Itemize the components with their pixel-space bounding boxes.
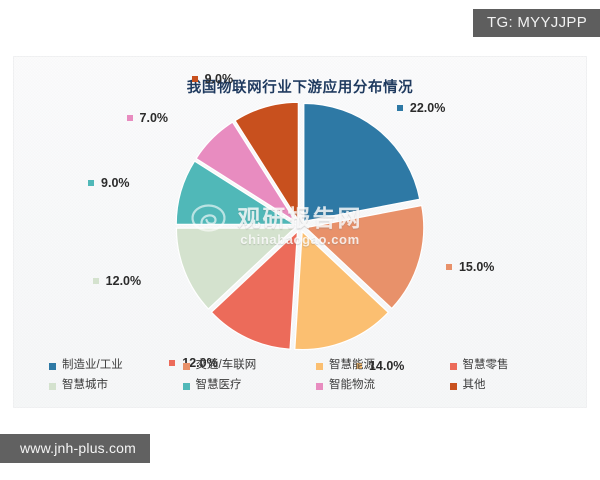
pie-chart-svg <box>13 100 587 352</box>
legend-swatch <box>316 383 323 390</box>
legend-label: 智慧医疗 <box>196 379 242 393</box>
pie-data-label-value: 22.0% <box>410 101 445 115</box>
legend-item[interactable]: 智能物流 <box>300 376 434 396</box>
legend-item[interactable]: 交通/车联网 <box>167 356 301 376</box>
pie-data-label: 12.0% <box>93 274 141 288</box>
pie-data-label-value: 12.0% <box>106 274 141 288</box>
chart-card: 我国物联网行业下游应用分布情况 22.0%15.0%14.0%12.0%12.0… <box>13 56 587 408</box>
legend-label: 交通/车联网 <box>196 359 257 373</box>
pie-data-label-swatch <box>446 264 452 270</box>
site-url-badge: www.jnh-plus.com <box>0 434 150 463</box>
pie-chart <box>13 100 587 352</box>
pie-data-label: 9.0% <box>192 72 234 86</box>
legend-label: 智慧城市 <box>62 379 108 393</box>
pie-data-label-swatch <box>93 278 99 284</box>
legend-item[interactable]: 制造业/工业 <box>33 356 167 376</box>
legend-swatch <box>183 383 190 390</box>
legend-swatch <box>450 363 457 370</box>
pie-data-label-value: 15.0% <box>459 260 494 274</box>
legend-item[interactable]: 其他 <box>434 376 568 396</box>
pie-slice[interactable] <box>304 103 420 221</box>
legend-label: 其他 <box>463 379 486 393</box>
legend-swatch <box>49 383 56 390</box>
legend-swatch <box>183 363 190 370</box>
legend-label: 智慧能源 <box>329 359 375 373</box>
pie-data-label: 15.0% <box>446 260 494 274</box>
pie-data-label: 22.0% <box>397 101 445 115</box>
legend-label: 制造业/工业 <box>62 359 123 373</box>
legend-label: 智能物流 <box>329 379 375 393</box>
pie-data-label-swatch <box>397 105 403 111</box>
chart-title: 我国物联网行业下游应用分布情况 <box>13 76 587 97</box>
legend-label: 智慧零售 <box>463 359 509 373</box>
legend-item[interactable]: 智慧零售 <box>434 356 568 376</box>
legend-swatch <box>450 383 457 390</box>
pie-data-label-swatch <box>192 76 198 82</box>
pie-data-label-value: 9.0% <box>101 176 130 190</box>
chart-legend: 制造业/工业交通/车联网智慧能源智慧零售智慧城市智慧医疗智能物流其他 <box>33 356 567 396</box>
legend-swatch <box>49 363 56 370</box>
legend-item[interactable]: 智慧能源 <box>300 356 434 376</box>
pie-data-label-swatch <box>127 115 133 121</box>
telegram-watermark-badge: TG: MYYJJPP <box>473 9 600 37</box>
legend-item[interactable]: 智慧城市 <box>33 376 167 396</box>
pie-data-label: 9.0% <box>88 176 130 190</box>
pie-data-label-value: 9.0% <box>205 72 234 86</box>
legend-swatch <box>316 363 323 370</box>
pie-data-label-swatch <box>88 180 94 186</box>
legend-item[interactable]: 智慧医疗 <box>167 376 301 396</box>
pie-data-label-value: 7.0% <box>140 111 169 125</box>
pie-data-label: 7.0% <box>127 111 169 125</box>
